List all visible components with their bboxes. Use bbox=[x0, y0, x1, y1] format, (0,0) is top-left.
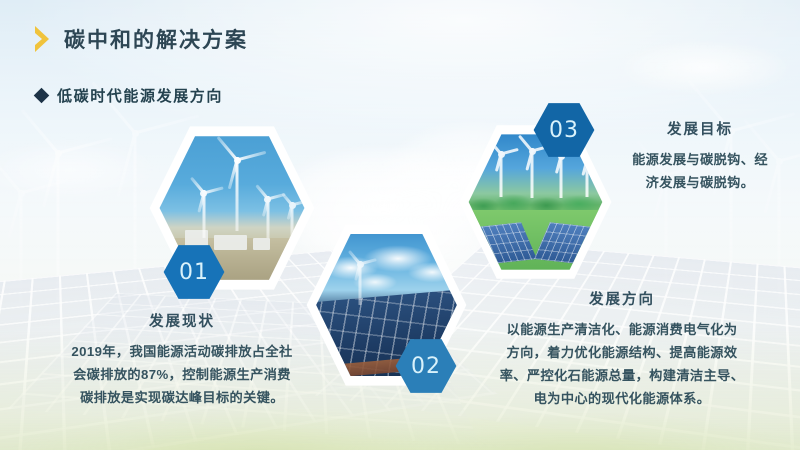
info-body-line: 方向，着力优化能源结构、提高能源效 bbox=[448, 341, 796, 364]
info-body-03: 能源发展与碳脱钩、经 济发展与碳脱钩。 bbox=[600, 148, 800, 194]
badge-label: 01 bbox=[179, 260, 209, 285]
info-body-line: 济发展与碳脱钩。 bbox=[600, 171, 800, 194]
badge-label: 03 bbox=[549, 118, 579, 143]
page-title: 碳中和的解决方案 bbox=[64, 24, 248, 54]
info-block-02: 发展方向 以能源生产清洁化、能源消费电气化为 方向，着力优化能源结构、提高能源效… bbox=[448, 288, 796, 410]
info-body-line: 碳排放是实现碳达峰目标的关键。 bbox=[22, 386, 342, 409]
photo-power-plant bbox=[214, 235, 247, 250]
info-body-line: 会碳排放的87%，控制能源生产消费 bbox=[22, 363, 342, 386]
info-heading-01: 发展现状 bbox=[22, 310, 342, 331]
info-body-line: 率、严控化石能源总量，构建清洁主导、 bbox=[448, 364, 796, 387]
hex-card-03[interactable] bbox=[458, 122, 613, 282]
info-body-line: 能源发展与碳脱钩、经 bbox=[600, 148, 800, 171]
photo-wind-turbine-icon bbox=[576, 157, 597, 197]
photo-wind-turbine-icon bbox=[191, 190, 217, 238]
info-body-line: 电为中心的现代化能源体系。 bbox=[448, 387, 796, 410]
page-title-row: 碳中和的解决方案 bbox=[32, 24, 248, 54]
green-energy-field-photo bbox=[467, 132, 603, 273]
photo-power-plant bbox=[253, 238, 271, 250]
photo-wind-turbine-icon bbox=[282, 202, 302, 238]
info-body-line: 2019年，我国能源活动碳排放占全社 bbox=[22, 340, 342, 363]
chevron-right-icon bbox=[32, 24, 52, 54]
photo-wind-turbine-icon bbox=[256, 196, 280, 238]
info-heading-03: 发展目标 bbox=[600, 118, 800, 139]
info-body-02: 以能源生产清洁化、能源消费电气化为 方向，着力优化能源结构、提高能源效 率、严控… bbox=[448, 318, 796, 410]
page-subtitle-row: 低碳时代能源发展方向 bbox=[36, 85, 223, 106]
photo-wind-turbine-icon bbox=[519, 148, 545, 198]
photo-wind-turbine-icon bbox=[217, 157, 257, 231]
info-body-line: 以能源生产清洁化、能源消费电气化为 bbox=[448, 318, 796, 341]
page-subtitle: 低碳时代能源发展方向 bbox=[57, 85, 223, 106]
photo-wind-turbine-icon bbox=[489, 151, 513, 197]
info-block-01: 发展现状 2019年，我国能源活动碳排放占全社 会碳排放的87%，控制能源生产消… bbox=[22, 310, 342, 409]
diamond-bullet-icon bbox=[34, 88, 50, 104]
hex-white-frame bbox=[458, 122, 613, 282]
info-heading-02: 发展方向 bbox=[448, 288, 796, 309]
photo-wind-turbine-icon bbox=[349, 261, 371, 305]
info-body-01: 2019年，我国能源活动碳排放占全社 会碳排放的87%，控制能源生产消费 碳排放… bbox=[22, 340, 342, 409]
photo-wind-turbine-icon bbox=[549, 153, 573, 198]
info-block-03: 发展目标 能源发展与碳脱钩、经 济发展与碳脱钩。 bbox=[600, 118, 800, 194]
slide-canvas: 碳中和的解决方案 低碳时代能源发展方向 bbox=[0, 0, 800, 450]
badge-label: 02 bbox=[411, 354, 441, 379]
photo-grass-field bbox=[467, 210, 603, 272]
